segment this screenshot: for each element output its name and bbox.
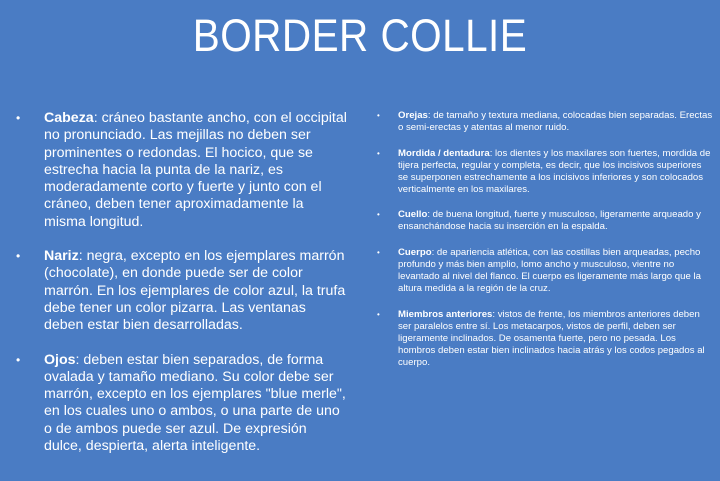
list-item-label: Miembros anteriores — [398, 309, 492, 320]
list-item-text: Ojos: deben estar bien separados, de for… — [44, 352, 348, 456]
bullet-icon: • — [377, 309, 380, 321]
list-item: • Miembros anteriores: vistos de frente,… — [366, 309, 714, 369]
page-title: BORDER COLLIE — [36, 8, 684, 64]
list-item: • Ojos: deben estar bien separados, de f… — [8, 352, 348, 456]
list-item-text: Cuello: de buena longitud, fuerte y musc… — [398, 209, 714, 233]
left-bullet-column: • Cabeza: cráneo bastante ancho, con el … — [8, 110, 348, 472]
right-bullet-column: • Orejas: de tamaño y textura mediana, c… — [366, 110, 714, 382]
bullet-icon: • — [16, 110, 20, 127]
list-item-label: Orejas — [398, 110, 428, 121]
slide-root: BORDER COLLIE • Cabeza: cráneo bastante … — [0, 0, 720, 481]
bullet-icon: • — [16, 248, 20, 265]
list-item: • Orejas: de tamaño y textura mediana, c… — [366, 110, 714, 134]
list-item-label: Cuello — [398, 209, 427, 220]
list-item-body: : de apariencia atlética, con las costil… — [398, 247, 701, 294]
list-item-text: Cuerpo: de apariencia atlética, con las … — [398, 247, 714, 295]
list-item-text: Nariz: negra, excepto en los ejemplares … — [44, 248, 348, 334]
list-item-body: : deben estar bien separados, de forma o… — [44, 352, 346, 454]
content-columns: • Cabeza: cráneo bastante ancho, con el … — [0, 110, 720, 481]
list-item-text: Orejas: de tamaño y textura mediana, col… — [398, 110, 714, 134]
list-item: • Mordida / dentadura: los dientes y los… — [366, 148, 714, 196]
bullet-icon: • — [377, 110, 380, 122]
list-item: • Cabeza: cráneo bastante ancho, con el … — [8, 110, 348, 231]
bullet-icon: • — [16, 352, 20, 369]
list-item-text: Mordida / dentadura: los dientes y los m… — [398, 148, 714, 196]
list-item-text: Cabeza: cráneo bastante ancho, con el oc… — [44, 110, 348, 231]
list-item-body: : negra, excepto en los ejemplares marró… — [44, 248, 345, 333]
list-item: • Nariz: negra, excepto en los ejemplare… — [8, 248, 348, 334]
list-item-body: : cráneo bastante ancho, con el occipita… — [44, 110, 347, 230]
list-item-label: Cabeza — [44, 110, 94, 126]
bullet-icon: • — [377, 209, 380, 221]
list-item: • Cuerpo: de apariencia atlética, con la… — [366, 247, 714, 295]
list-item-label: Cuerpo — [398, 247, 432, 258]
list-item: • Cuello: de buena longitud, fuerte y mu… — [366, 209, 714, 233]
list-item-label: Mordida / dentadura — [398, 148, 490, 159]
bullet-icon: • — [377, 247, 380, 259]
list-item-body: : de buena longitud, fuerte y musculoso,… — [398, 209, 701, 232]
list-item-text: Miembros anteriores: vistos de frente, l… — [398, 309, 714, 369]
bullet-icon: • — [377, 148, 380, 160]
list-item-body: : de tamaño y textura mediana, colocadas… — [398, 110, 712, 133]
list-item-label: Nariz — [44, 248, 79, 264]
list-item-label: Ojos — [44, 352, 76, 368]
